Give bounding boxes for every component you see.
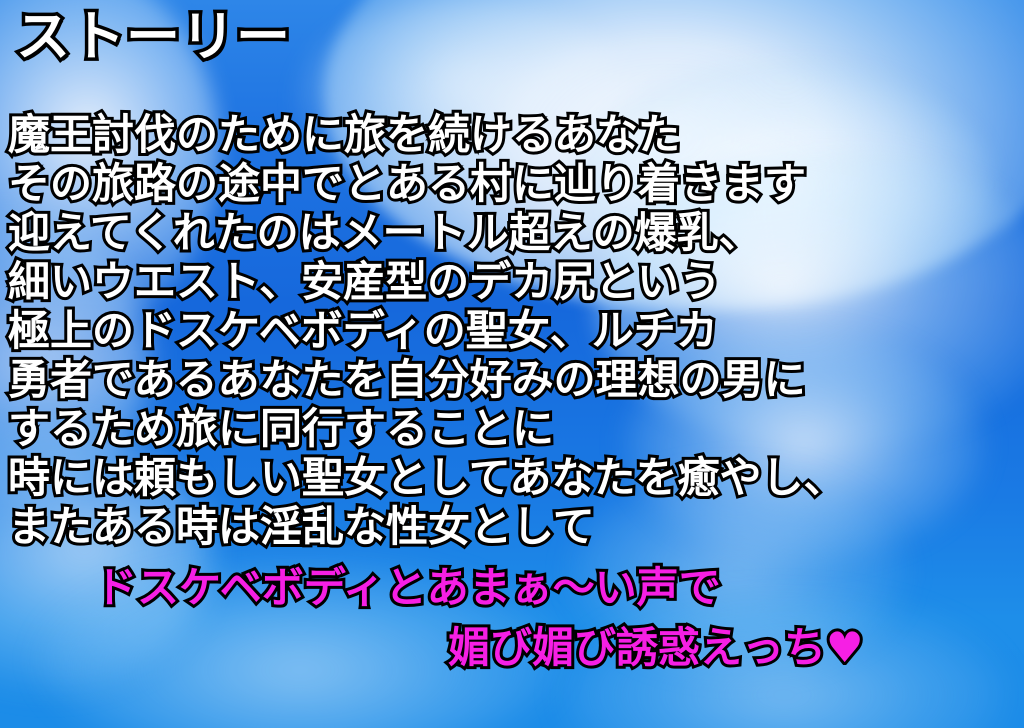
story-line: 時には頼もしい聖女としてあなたを癒やし、 — [8, 453, 1024, 502]
story-body: 魔王討伐のために旅を続けるあなた その旅路の途中でとある村に辿り着きます 迎えて… — [8, 110, 1024, 551]
story-highlight-line: ドスケベボディとあまぁ〜い声で — [0, 558, 1024, 618]
story-line: 魔王討伐のために旅を続けるあなた — [8, 110, 1024, 159]
story-line: またある時は淫乱な性女として — [8, 502, 1024, 551]
story-line: するため旅に同行することに — [8, 404, 1024, 453]
story-highlight: ドスケベボディとあまぁ〜い声で 媚び媚び誘惑えっち♥ — [0, 558, 1024, 678]
story-highlight-line-with-heart-icon: 媚び媚び誘惑えっち♥ — [0, 618, 1024, 678]
story-banner: ストーリー 魔王討伐のために旅を続けるあなた その旅路の途中でとある村に辿り着き… — [0, 0, 1024, 728]
story-line: 勇者であるあなたを自分好みの理想の男に — [8, 355, 1024, 404]
story-line: 細いウエスト、安産型のデカ尻という — [8, 257, 1024, 306]
page-title: ストーリー — [16, 10, 291, 64]
story-line: 迎えてくれたのはメートル超えの爆乳、 — [8, 208, 1024, 257]
text-content: ストーリー 魔王討伐のために旅を続けるあなた その旅路の途中でとある村に辿り着き… — [0, 0, 1024, 728]
story-line: その旅路の途中でとある村に辿り着きます — [8, 159, 1024, 208]
story-line: 極上のドスケベボディの聖女、ルチカ — [8, 306, 1024, 355]
